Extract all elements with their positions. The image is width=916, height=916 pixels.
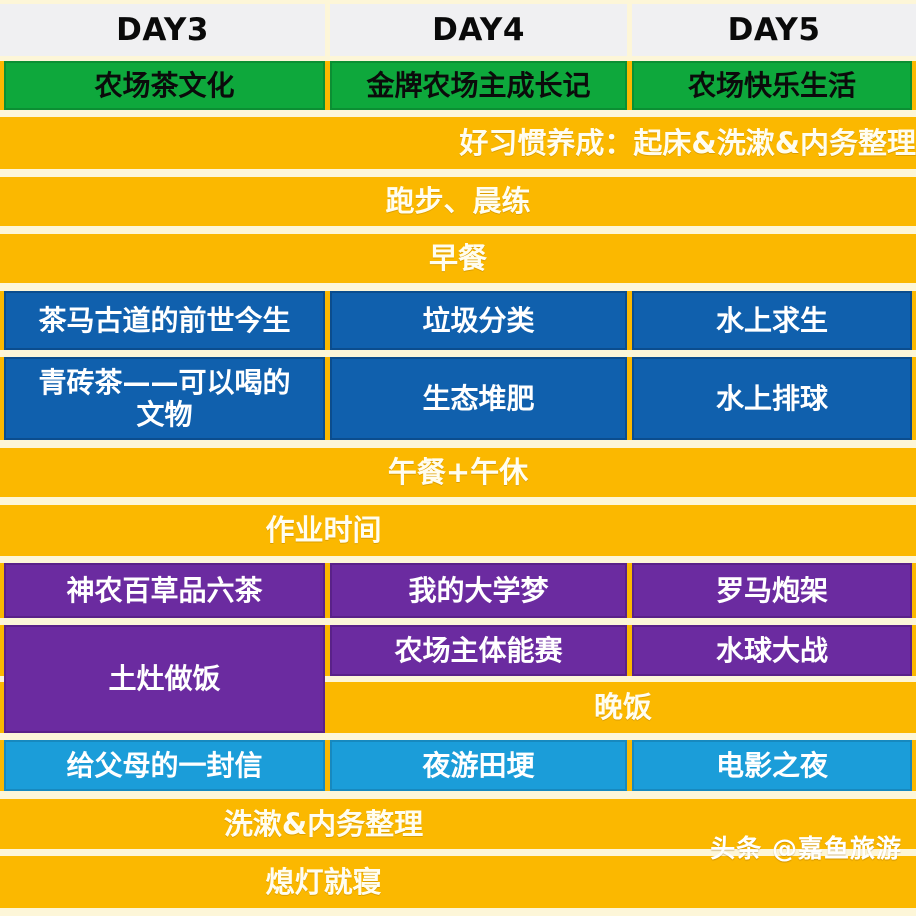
activity-label-morning2-day3: 青砖茶——可以喝的 文物	[38, 367, 290, 430]
row-habit-formation: 好习惯养成：起床&洗漱&内务整理	[0, 117, 916, 169]
activity-cell-morning2-day3: 青砖茶——可以喝的 文物	[4, 357, 325, 440]
row-wash-tidy: 洗漱&内务整理	[0, 799, 647, 849]
activity-cell-afternoon2-day5: 水球大战	[632, 625, 912, 676]
schedule-table-page: DAY3 DAY4 DAY5 农场茶文化 金牌农场主成长记 农场快乐生活 好习惯…	[0, 0, 916, 916]
separator	[0, 618, 916, 625]
activity-label-afternoon2-day4: 农场主体能赛	[394, 635, 562, 666]
row-homework-time: 作业时间	[0, 505, 647, 556]
column-header-day3: DAY3	[0, 4, 325, 56]
activity-label-morning1-day3: 茶马古道的前世今生	[38, 305, 290, 336]
separator	[0, 350, 916, 357]
row-morning-exercise: 跑步、晨练	[0, 177, 916, 226]
activity-cell-evening-day3: 给父母的一封信	[4, 740, 325, 791]
theme-cell-day3: 农场茶文化	[4, 61, 325, 110]
activity-cell-morning1-day5: 水上求生	[632, 291, 912, 350]
theme-label-day3: 农场茶文化	[94, 70, 234, 101]
row-lights-out-label: 熄灯就寝	[265, 866, 381, 898]
row-dinner-label: 晚饭	[594, 691, 652, 723]
activity-label-afternoon1-day4: 我的大学梦	[408, 575, 548, 606]
activity-cell-afternoon1-day5: 罗马炮架	[632, 563, 912, 618]
activity-label-morning1-day4: 垃圾分类	[422, 305, 534, 336]
activity-cell-morning1-day4: 垃圾分类	[330, 291, 627, 350]
row-dinner: 晚饭	[330, 682, 916, 733]
row-lunch-nap: 午餐+午休	[0, 448, 916, 497]
activity-cell-afternoon1-day3: 神农百草品六茶	[4, 563, 325, 618]
column-header-day4: DAY4	[330, 4, 627, 56]
activity-cell-afternoon2-day4: 农场主体能赛	[330, 625, 627, 676]
activity-label-afternoon2-day3: 土灶做饭	[108, 663, 220, 694]
separator	[0, 440, 916, 448]
column-header-day3-label: DAY3	[116, 13, 209, 48]
row-morning-exercise-label: 跑步、晨练	[385, 185, 530, 217]
activity-label-morning1-day5: 水上求生	[716, 305, 828, 336]
activity-cell-afternoon2-day3: 土灶做饭	[4, 625, 325, 733]
row-breakfast-label: 早餐	[429, 242, 487, 274]
separator	[0, 908, 916, 916]
activity-cell-afternoon1-day4: 我的大学梦	[330, 563, 627, 618]
separator	[0, 110, 916, 117]
separator	[0, 733, 916, 740]
theme-cell-day5: 农场快乐生活	[632, 61, 912, 110]
activity-cell-evening-day5: 电影之夜	[632, 740, 912, 791]
activity-label-afternoon2-day5: 水球大战	[716, 635, 828, 666]
activity-cell-evening-day4: 夜游田埂	[330, 740, 627, 791]
watermark-label: 头条 @嘉鱼旅游	[710, 834, 902, 863]
activity-label-evening-day4: 夜游田埂	[422, 750, 534, 781]
activity-label-afternoon1-day3: 神农百草品六茶	[66, 575, 262, 606]
row-habit-formation-label: 好习惯养成：起床&洗漱&内务整理	[459, 127, 916, 159]
theme-label-day5: 农场快乐生活	[688, 70, 856, 101]
row-homework-time-filler	[647, 505, 916, 556]
separator	[0, 169, 916, 177]
activity-cell-morning2-day5: 水上排球	[632, 357, 912, 440]
separator	[0, 791, 916, 799]
column-header-day5-label: DAY5	[728, 13, 821, 48]
activity-cell-morning1-day3: 茶马古道的前世今生	[4, 291, 325, 350]
activity-label-evening-day3: 给父母的一封信	[66, 750, 262, 781]
row-lights-out: 熄灯就寝	[0, 856, 647, 908]
activity-label-morning2-day4: 生态堆肥	[422, 383, 534, 414]
activity-cell-morning2-day4: 生态堆肥	[330, 357, 627, 440]
theme-cell-day4: 金牌农场主成长记	[330, 61, 627, 110]
separator	[0, 283, 916, 291]
separator	[0, 497, 916, 505]
activity-label-morning2-day5: 水上排球	[716, 383, 828, 414]
activity-label-afternoon1-day5: 罗马炮架	[716, 575, 828, 606]
row-breakfast: 早餐	[0, 234, 916, 283]
row-homework-time-label: 作业时间	[265, 514, 381, 546]
separator	[0, 226, 916, 234]
watermark: 头条 @嘉鱼旅游	[671, 800, 902, 894]
column-header-day5: DAY5	[632, 4, 916, 56]
row-lunch-nap-label: 午餐+午休	[388, 456, 528, 488]
activity-label-evening-day5: 电影之夜	[716, 750, 828, 781]
separator	[0, 556, 916, 563]
row-wash-tidy-label: 洗漱&内务整理	[224, 808, 423, 840]
column-header-day4-label: DAY4	[432, 13, 525, 48]
theme-label-day4: 金牌农场主成长记	[366, 70, 590, 101]
